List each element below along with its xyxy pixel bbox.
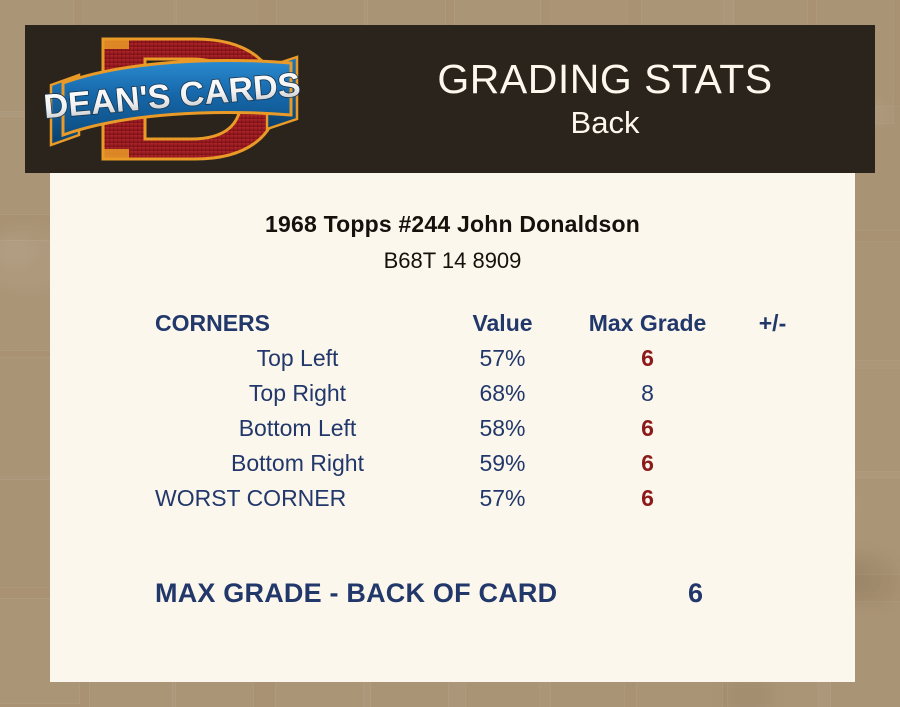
row-plus-minus [730, 481, 815, 516]
row-label: Top Left [155, 341, 440, 376]
page-subtitle: Back [571, 104, 640, 142]
column-header-max-grade: Max Grade [565, 306, 730, 341]
header-band: DEAN'S CARDS GRADING STATS Back [25, 25, 875, 173]
grading-stats-table: CORNERS Value Max Grade +/- Top Left57%6… [155, 306, 815, 516]
row-max-grade: 6 [565, 341, 730, 376]
table-header-row: CORNERS Value Max Grade +/- [155, 306, 815, 341]
table-row: Top Left57%6 [155, 341, 815, 376]
row-value: 57% [440, 481, 565, 516]
max-grade-value: 8 [641, 380, 654, 406]
row-max-grade: 8 [565, 376, 730, 411]
table-row: Top Right68%8 [155, 376, 815, 411]
row-label: Top Right [155, 376, 440, 411]
row-value: 58% [440, 411, 565, 446]
row-plus-minus [730, 341, 815, 376]
card-title: 1968 Topps #244 John Donaldson [50, 211, 855, 238]
max-grade-value: 6 [641, 485, 654, 511]
table-row: WORST CORNER57%6 [155, 481, 815, 516]
table-row: Bottom Left58%6 [155, 411, 815, 446]
max-grade-summary-label: MAX GRADE - BACK OF CARD [155, 578, 557, 609]
row-plus-minus [730, 376, 815, 411]
row-max-grade: 6 [565, 411, 730, 446]
row-label: Bottom Right [155, 446, 440, 481]
row-value: 68% [440, 376, 565, 411]
max-grade-summary-value: 6 [688, 578, 815, 609]
row-max-grade: 6 [565, 481, 730, 516]
column-header-corners: CORNERS [155, 306, 440, 341]
page-title: GRADING STATS [437, 56, 772, 102]
content-panel: 1968 Topps #244 John Donaldson B68T 14 8… [50, 173, 855, 682]
max-grade-value: 6 [641, 415, 654, 441]
deans-cards-logo: DEAN'S CARDS [45, 27, 315, 172]
header-titles: GRADING STATS Back [325, 25, 875, 173]
column-header-value: Value [440, 306, 565, 341]
row-plus-minus [730, 446, 815, 481]
max-grade-value: 6 [641, 345, 654, 371]
row-label: Bottom Left [155, 411, 440, 446]
column-header-plus-minus: +/- [730, 306, 815, 341]
row-max-grade: 6 [565, 446, 730, 481]
row-label: WORST CORNER [155, 481, 440, 516]
row-value: 59% [440, 446, 565, 481]
card-serial-number: B68T 14 8909 [50, 248, 855, 274]
row-value: 57% [440, 341, 565, 376]
row-plus-minus [730, 411, 815, 446]
table-row: Bottom Right59%6 [155, 446, 815, 481]
max-grade-summary-row: MAX GRADE - BACK OF CARD 6 [155, 578, 815, 609]
max-grade-value: 6 [641, 450, 654, 476]
